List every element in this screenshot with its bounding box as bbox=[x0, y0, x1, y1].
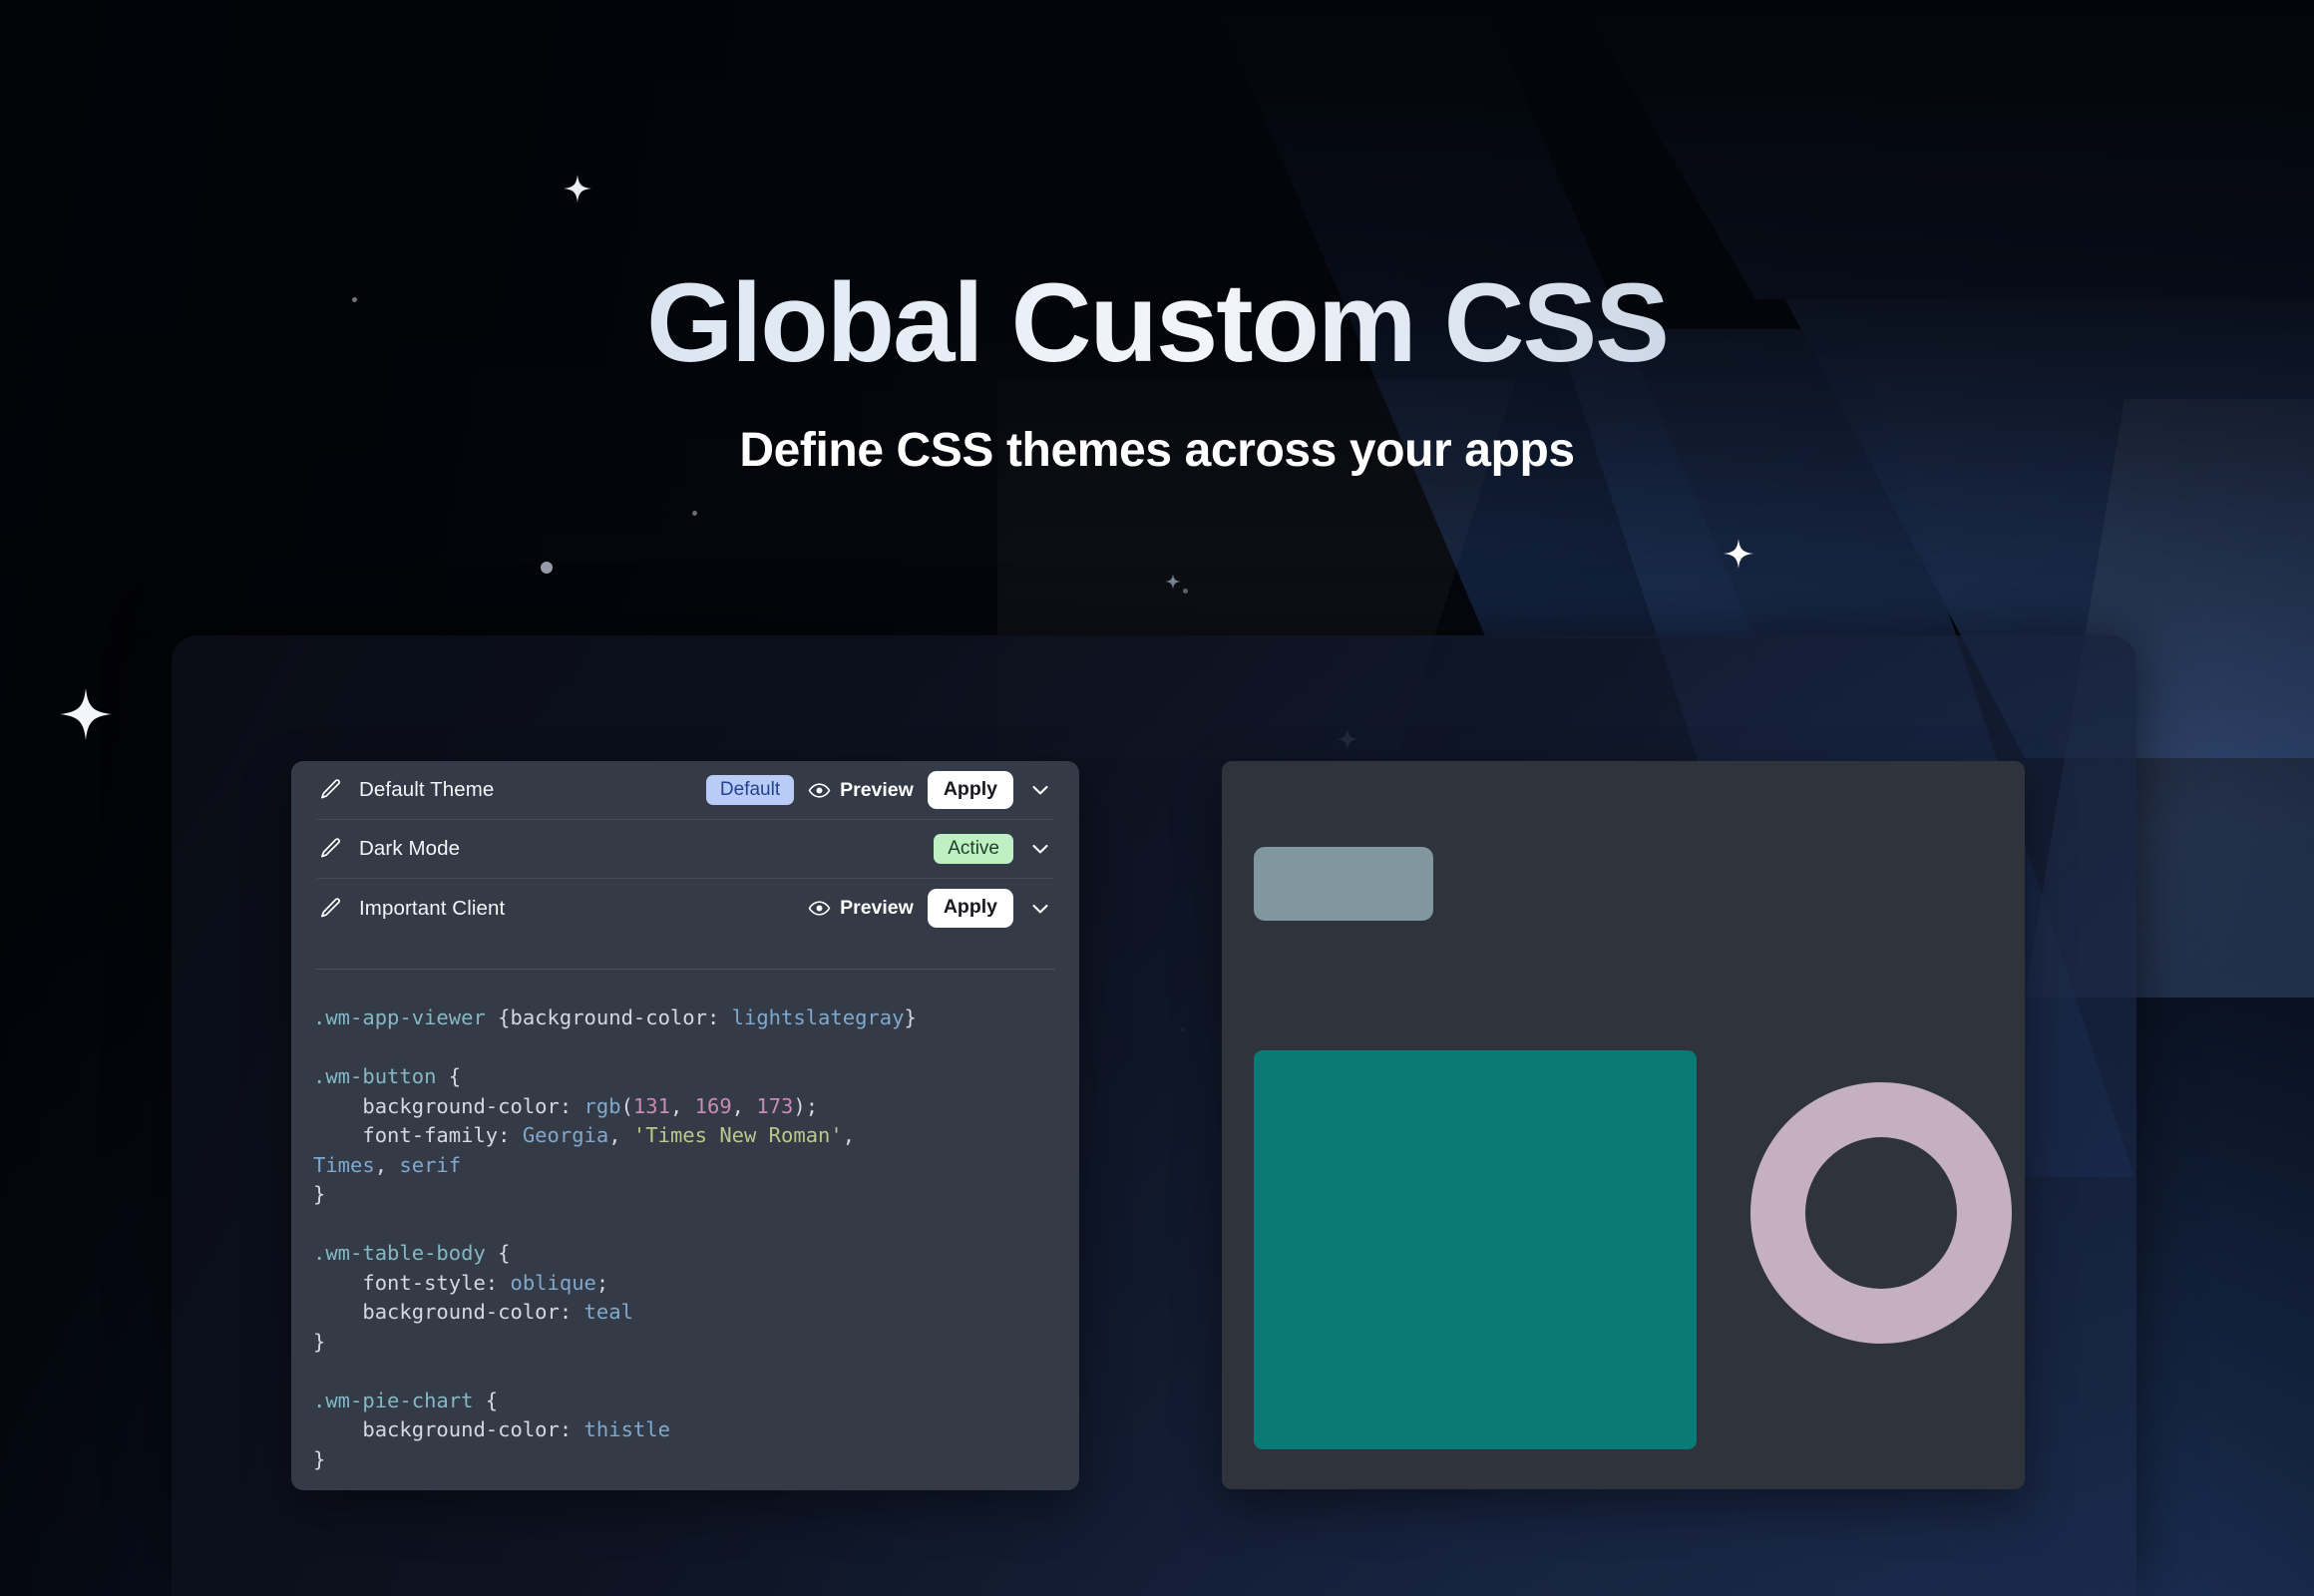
apply-button[interactable]: Apply bbox=[928, 889, 1013, 928]
code-number: 131 bbox=[633, 1094, 670, 1118]
page-subtitle: Define CSS themes across your apps bbox=[0, 423, 2314, 478]
code-property: background-color: bbox=[362, 1300, 572, 1324]
status-badge-active: Active bbox=[934, 834, 1013, 864]
code-property: background-color: bbox=[510, 1005, 719, 1029]
page-title: Global Custom CSS bbox=[0, 267, 2314, 379]
eye-icon bbox=[808, 897, 831, 920]
code-punctuation: { bbox=[486, 1241, 511, 1265]
theme-row-dark-mode[interactable]: Dark Mode Active bbox=[317, 820, 1053, 879]
code-punctuation: { bbox=[436, 1064, 461, 1088]
preview-pie-chart-swatch bbox=[1750, 1082, 2012, 1344]
hero-text-block: Global Custom CSS Define CSS themes acro… bbox=[0, 0, 2314, 478]
apply-button[interactable]: Apply bbox=[928, 771, 1013, 810]
code-punctuation: } bbox=[313, 1330, 325, 1354]
code-punctuation: { bbox=[473, 1389, 498, 1412]
chevron-down-icon[interactable] bbox=[1027, 777, 1053, 803]
pencil-icon[interactable] bbox=[317, 896, 343, 922]
code-value: oblique bbox=[498, 1271, 596, 1295]
status-badge-default: Default bbox=[706, 775, 794, 805]
theme-row-default-theme[interactable]: Default Theme Default Preview Apply bbox=[317, 761, 1053, 820]
theme-preview-panel bbox=[1222, 761, 2025, 1489]
code-value: lightslategray bbox=[719, 1005, 904, 1029]
preview-label: Preview bbox=[840, 779, 914, 802]
code-number: 173 bbox=[756, 1094, 793, 1118]
theme-list-panel: Default Theme Default Preview Apply bbox=[291, 761, 1079, 1490]
theme-name: Default Theme bbox=[359, 778, 494, 802]
theme-name: Important Client bbox=[359, 897, 505, 921]
theme-name: Dark Mode bbox=[359, 837, 460, 861]
preview-label: Preview bbox=[840, 897, 914, 920]
preview-table-body-swatch bbox=[1254, 1050, 1697, 1449]
theme-row-actions: Default Preview Apply bbox=[706, 771, 1053, 810]
code-value: teal bbox=[572, 1300, 633, 1324]
eye-icon bbox=[808, 779, 831, 802]
theme-row-important-client[interactable]: Important Client Preview Apply bbox=[317, 879, 1053, 938]
code-property: font-family: bbox=[362, 1123, 510, 1147]
code-property: background-color: bbox=[362, 1094, 572, 1118]
preview-button[interactable]: Preview bbox=[808, 897, 914, 920]
code-selector: .wm-button bbox=[313, 1064, 436, 1088]
code-value: thistle bbox=[572, 1417, 670, 1441]
pencil-icon[interactable] bbox=[317, 777, 343, 803]
preview-button-swatch[interactable] bbox=[1254, 847, 1433, 921]
css-code-editor[interactable]: .wm-app-viewer {background-color: lights… bbox=[291, 970, 1079, 1474]
pencil-icon[interactable] bbox=[317, 836, 343, 862]
chevron-down-icon[interactable] bbox=[1027, 836, 1053, 862]
code-property: font-style: bbox=[362, 1271, 498, 1295]
code-value: Georgia bbox=[510, 1123, 608, 1147]
code-function: rgb bbox=[572, 1094, 620, 1118]
code-selector: .wm-pie-chart bbox=[313, 1389, 473, 1412]
code-value: Times bbox=[313, 1153, 375, 1177]
code-selector: .wm-table-body bbox=[313, 1241, 486, 1265]
code-punctuation: { bbox=[486, 1005, 511, 1029]
hero-stage: Global Custom CSS Define CSS themes acro… bbox=[0, 0, 2314, 1596]
chevron-down-icon[interactable] bbox=[1027, 896, 1053, 922]
code-string: 'Times New Roman' bbox=[633, 1123, 843, 1147]
code-selector: .wm-app-viewer bbox=[313, 1005, 486, 1029]
code-punctuation: } bbox=[313, 1182, 325, 1206]
code-property: background-color: bbox=[362, 1417, 572, 1441]
code-punctuation: } bbox=[904, 1005, 916, 1029]
preview-button[interactable]: Preview bbox=[808, 779, 914, 802]
code-punctuation: } bbox=[313, 1447, 325, 1471]
theme-rows: Default Theme Default Preview Apply bbox=[291, 761, 1079, 938]
code-number: 169 bbox=[695, 1094, 732, 1118]
code-value: serif bbox=[387, 1153, 461, 1177]
theme-row-actions: Preview Apply bbox=[808, 889, 1053, 928]
theme-row-actions: Active bbox=[934, 834, 1053, 864]
